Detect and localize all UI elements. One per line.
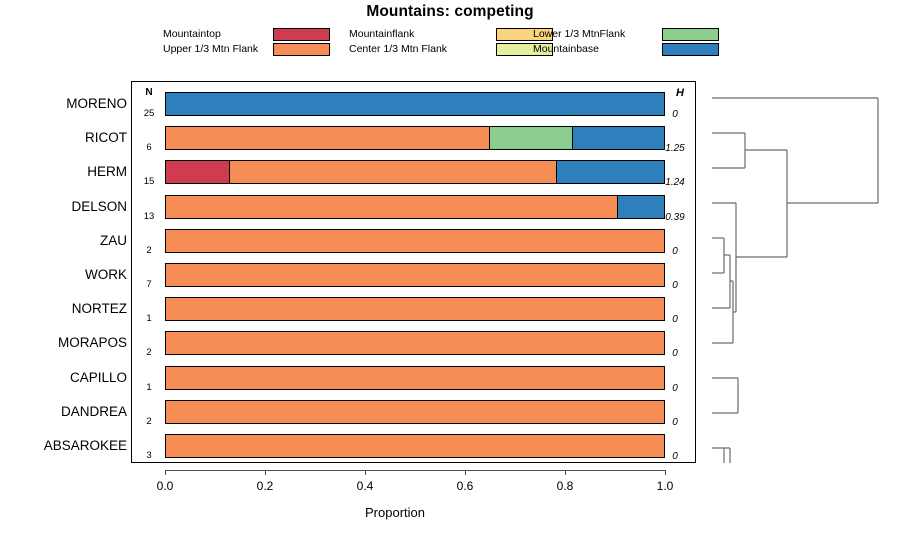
- legend-item-label: Center 1/3 Mtn Flank: [349, 42, 447, 57]
- category-label: DANDREA: [61, 405, 127, 419]
- category-label: MORAPOS: [58, 336, 127, 350]
- legend-item-label: Lower 1/3 MtnFlank: [533, 27, 625, 42]
- stacked-bar[interactable]: [165, 126, 665, 150]
- x-tick-label: 0.8: [545, 480, 585, 493]
- x-tick-label: 0.2: [245, 480, 285, 493]
- category-label: HERM: [87, 165, 127, 179]
- category-label: WORK: [85, 268, 127, 282]
- legend-swatch: [662, 43, 719, 56]
- category-label: ZAU: [100, 234, 127, 248]
- category-label: MORENO: [66, 97, 127, 111]
- bar-segment[interactable]: [166, 401, 664, 423]
- x-tick-label: 0.0: [145, 480, 185, 493]
- bar-segment[interactable]: [166, 230, 664, 252]
- bar-segment[interactable]: [166, 367, 664, 389]
- x-tick: [165, 470, 166, 475]
- bar-segment[interactable]: [166, 127, 489, 149]
- legend-swatch: [273, 43, 330, 56]
- legend-item-label: Mountaintop: [163, 27, 221, 42]
- category-label: RICOT: [85, 131, 127, 145]
- x-tick: [565, 470, 566, 475]
- n-value: 2: [136, 417, 162, 427]
- category-label: NORTEZ: [72, 302, 127, 316]
- legend-item-label: Upper 1/3 Mtn Flank: [163, 42, 258, 57]
- legend-swatch: [662, 28, 719, 41]
- dendrogram: [700, 81, 900, 463]
- x-tick-label: 0.4: [345, 480, 385, 493]
- stacked-bar[interactable]: [165, 297, 665, 321]
- n-header: N: [136, 88, 162, 98]
- x-axis: [131, 470, 696, 472]
- x-tick-label: 0.6: [445, 480, 485, 493]
- n-value: 13: [136, 212, 162, 222]
- legend-item-label: Mountainflank: [349, 27, 414, 42]
- x-tick: [465, 470, 466, 475]
- bar-segment[interactable]: [166, 332, 664, 354]
- bar-segment[interactable]: [229, 161, 555, 183]
- bar-segment[interactable]: [166, 93, 664, 115]
- legend-swatch: [273, 28, 330, 41]
- n-value: 7: [136, 280, 162, 290]
- stacked-bar[interactable]: [165, 195, 665, 219]
- bar-segment[interactable]: [572, 127, 664, 149]
- bar-segment[interactable]: [617, 196, 664, 218]
- n-value: 1: [136, 314, 162, 324]
- legend-item-label: Mountainbase: [533, 42, 599, 57]
- n-value: 6: [136, 143, 162, 153]
- n-value: 25: [136, 109, 162, 119]
- category-label: ABSAROKEE: [44, 439, 127, 453]
- stacked-bar[interactable]: [165, 229, 665, 253]
- category-label: CAPILLO: [70, 371, 127, 385]
- legend: MountaintopUpper 1/3 Mtn FlankMountainfl…: [163, 27, 723, 57]
- x-axis-title: Proportion: [0, 505, 790, 520]
- stacked-bar[interactable]: [165, 160, 665, 184]
- bar-segment[interactable]: [489, 127, 571, 149]
- stacked-bar[interactable]: [165, 366, 665, 390]
- stacked-bar[interactable]: [165, 331, 665, 355]
- stacked-bar[interactable]: [165, 263, 665, 287]
- page-title: Mountains: competing: [0, 3, 900, 21]
- h-header: H: [660, 88, 700, 99]
- bar-segment[interactable]: [556, 161, 664, 183]
- x-axis-line: [165, 470, 665, 471]
- n-value: 2: [136, 348, 162, 358]
- x-tick: [365, 470, 366, 475]
- stacked-bar[interactable]: [165, 400, 665, 424]
- stacked-bar[interactable]: [165, 92, 665, 116]
- n-value: 1: [136, 383, 162, 393]
- n-value: 3: [136, 451, 162, 461]
- bar-segment[interactable]: [166, 264, 664, 286]
- x-tick-label: 1.0: [645, 480, 685, 493]
- n-value: 2: [136, 246, 162, 256]
- bar-segment[interactable]: [166, 161, 229, 183]
- stacked-bar[interactable]: [165, 434, 665, 458]
- x-tick: [665, 470, 666, 475]
- n-value: 15: [136, 177, 162, 187]
- chart-page: Mountains: competing MountaintopUpper 1/…: [0, 0, 900, 540]
- bar-segment[interactable]: [166, 298, 664, 320]
- bar-segment[interactable]: [166, 196, 617, 218]
- bar-segment[interactable]: [166, 435, 664, 457]
- category-label: DELSON: [71, 200, 127, 214]
- x-tick: [265, 470, 266, 475]
